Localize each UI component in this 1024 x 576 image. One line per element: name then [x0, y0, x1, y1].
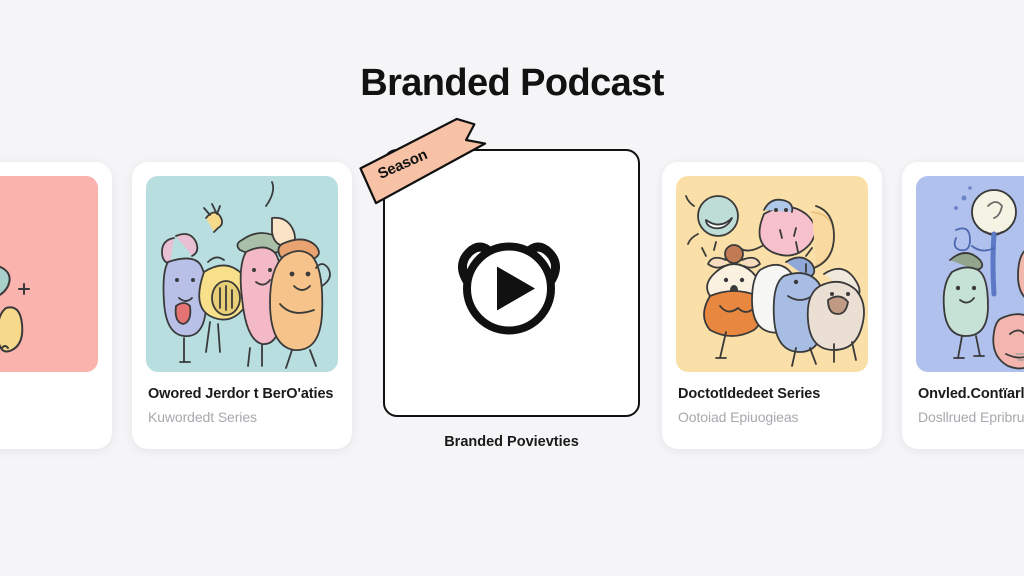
- podcast-card-0[interactable]: ed Banre Ent Vedees.: [0, 162, 112, 449]
- featured-caption: Branded Povievties: [383, 434, 640, 450]
- card-title-4: Onvled.Contïarl: [918, 386, 1024, 402]
- card-title-0: ed Banre: [0, 386, 96, 402]
- card-thumbnail-1: [146, 176, 338, 372]
- card-thumbnail-0: [0, 176, 98, 372]
- season-ribbon: Season: [358, 110, 495, 203]
- podcast-carousel[interactable]: ed Banre Ent Vedees.: [0, 148, 1024, 458]
- illustration-characters-pink: [0, 176, 98, 372]
- podcast-card-1[interactable]: Owored Jerdor t BerO'aties Kuwordedt Ser…: [132, 162, 352, 449]
- card-text-0: ed Banre Ent Vedees.: [0, 372, 98, 425]
- featured-podcast-card[interactable]: Season: [383, 149, 640, 417]
- card-subtitle-3: Ootoiad Epiuogieas: [678, 409, 866, 425]
- podcast-card-3[interactable]: Doctotldedeet Series Ootoiad Epiuogieas: [662, 162, 882, 449]
- card-text-4: Onvled.Contïarl Dosllrued Epribru: [916, 372, 1024, 425]
- podcast-card-4[interactable]: Onvled.Contïarl Dosllrued Epribru: [902, 162, 1024, 449]
- card-subtitle-1: Kuwordedt Series: [148, 409, 336, 425]
- card-thumbnail-4: [916, 176, 1024, 372]
- card-title-1: Owored Jerdor t BerO'aties: [148, 386, 336, 402]
- illustration-characters-teal: [146, 176, 338, 372]
- card-subtitle-4: Dosllrued Epribru: [918, 409, 1024, 425]
- podcast-carousel-page: Branded Podcast: [0, 0, 1024, 576]
- page-title: Branded Podcast: [0, 62, 1024, 105]
- card-text-1: Owored Jerdor t BerO'aties Kuwordedt Ser…: [146, 372, 338, 425]
- card-subtitle-0: Ent Vedees.: [0, 409, 96, 425]
- illustration-characters-blue: [916, 176, 1024, 372]
- play-circle-alarm-icon[interactable]: [451, 223, 573, 344]
- card-title-3: Doctotldedeet Series: [678, 386, 866, 402]
- card-text-3: Doctotldedeet Series Ootoiad Epiuogieas: [676, 372, 868, 425]
- illustration-characters-yellow: [676, 176, 868, 372]
- card-thumbnail-3: [676, 176, 868, 372]
